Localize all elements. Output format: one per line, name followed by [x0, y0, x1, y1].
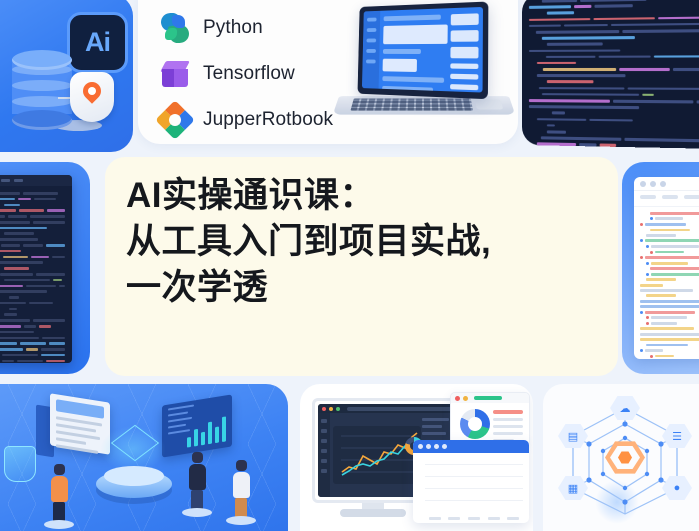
ai-badge: Ai	[67, 12, 128, 73]
line-chart-area	[333, 426, 421, 484]
title-line-2: 从工具入门到项目实战,	[126, 219, 608, 265]
poster-canvas: Ai Python Tensorflow	[0, 0, 699, 525]
shield-badge-icon	[4, 446, 36, 482]
window-titlebar	[413, 440, 529, 453]
document-lines	[634, 207, 699, 359]
bar-chart-screen	[162, 394, 232, 457]
tensorflow-logo-icon	[160, 59, 190, 89]
bar-chart-window	[413, 440, 529, 523]
dashboard-illustration	[300, 384, 533, 531]
podium-top	[104, 466, 164, 486]
person	[232, 460, 250, 525]
browser-titlebar	[318, 404, 460, 413]
list-item: Tensorflow	[160, 52, 333, 96]
code-editor-card	[0, 162, 90, 374]
window-tabs	[634, 191, 699, 207]
tech-stack-card: Python Tensorflow JupperRotbook	[138, 0, 518, 144]
tech-label: JupperRotbook	[203, 109, 333, 131]
title-card: AI实操通识课： 从工具入门到项目实战, 一次学透	[105, 157, 618, 376]
title-line-1: AI实操通识课：	[126, 173, 608, 219]
list-item: Python	[160, 6, 333, 50]
database-ai-card: Ai	[0, 0, 133, 152]
list-item: JupperRotbook	[160, 98, 333, 142]
notebook-document-card	[622, 162, 699, 374]
line-chart-svg	[333, 426, 421, 484]
python-logo-icon	[160, 13, 190, 43]
donut-chart	[460, 409, 490, 439]
code-editor-illustration	[522, 0, 699, 149]
hexagon-network-diagram: ☁ ☰ ● ▦ ▤	[543, 384, 699, 531]
code-lines	[0, 186, 72, 363]
laptop-illustration	[334, 2, 518, 134]
map-pin-icon	[70, 72, 114, 122]
page-title: AI实操通识课： 从工具入门到项目实战, 一次学透	[126, 173, 608, 312]
database-cylinder-icon	[12, 50, 72, 122]
person	[188, 452, 206, 517]
isometric-team-analytics-illustration	[0, 384, 288, 531]
tech-label: Python	[203, 17, 263, 39]
bar-chart-area	[425, 460, 523, 510]
window-titlebar	[451, 393, 529, 403]
donut-chart-window	[450, 392, 530, 446]
bar-chart-xlabels	[425, 517, 523, 520]
window-titlebar	[634, 177, 699, 191]
monitor-base	[340, 509, 406, 517]
code-lines	[522, 0, 699, 149]
title-line-3: 一次学透	[126, 265, 608, 311]
person	[50, 464, 68, 529]
editor-titlebar	[0, 175, 72, 186]
code-editor-illustration	[0, 175, 72, 363]
tech-stack-list: Python Tensorflow JupperRotbook	[160, 6, 333, 144]
tech-label: Tensorflow	[203, 63, 295, 85]
jupyter-logo-icon	[154, 99, 196, 141]
notebook-document-illustration	[634, 177, 699, 359]
